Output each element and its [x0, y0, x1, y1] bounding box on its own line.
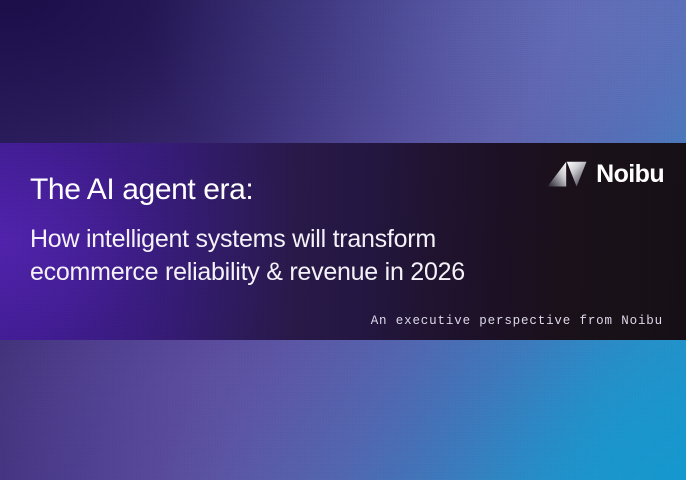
- noibu-triangle-mark-icon: [547, 161, 587, 187]
- banner-content: The AI agent era: How intelligent system…: [0, 143, 686, 340]
- title-banner: The AI agent era: How intelligent system…: [0, 143, 686, 340]
- page-subtitle: How intelligent systems will transform e…: [30, 223, 530, 290]
- brand-wordmark: Noibu: [596, 162, 664, 187]
- brand-logo-lockup[interactable]: Noibu: [547, 161, 664, 187]
- slide-canvas: The AI agent era: How intelligent system…: [0, 0, 686, 480]
- page-title: The AI agent era:: [30, 173, 530, 207]
- executive-perspective-kicker: An executive perspective from Noibu: [371, 314, 663, 328]
- headline-block: The AI agent era: How intelligent system…: [30, 173, 530, 289]
